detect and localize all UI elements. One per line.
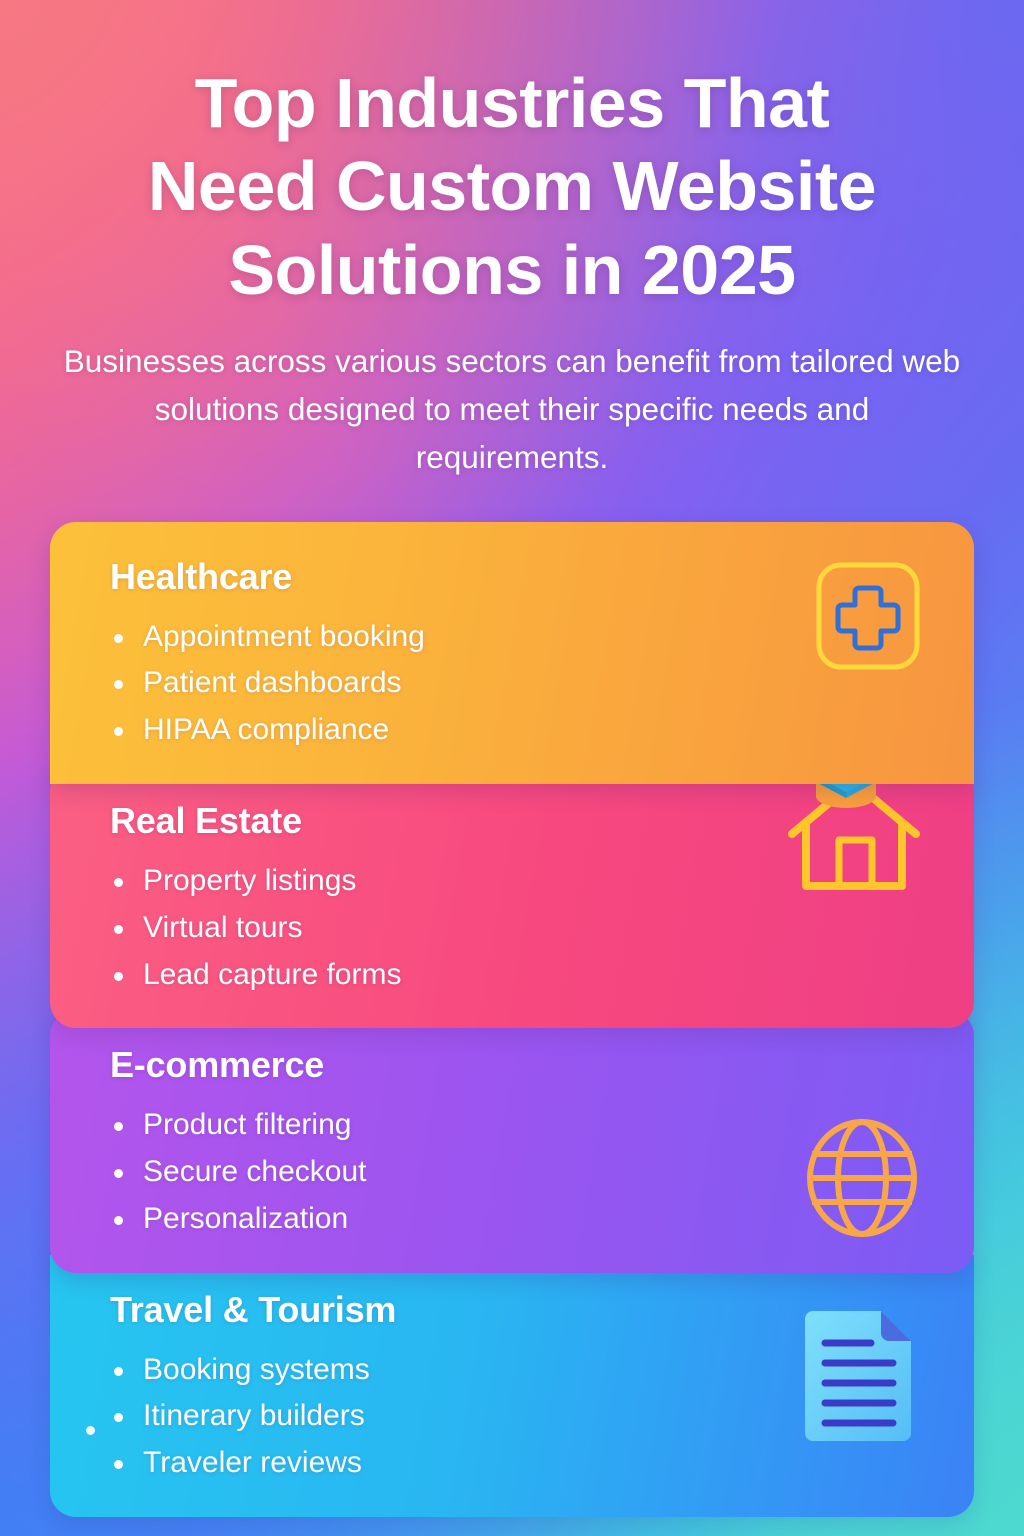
globe-icon (806, 1118, 918, 1238)
card-title: E-commerce (110, 1044, 934, 1086)
list-item: Virtual tours (110, 905, 934, 952)
decorative-dot (86, 1426, 95, 1435)
industry-card-ecommerce[interactable]: E-commerce Product filtering Secure chec… (50, 1010, 974, 1272)
document-icon (797, 1307, 919, 1445)
list-item: Lead capture forms (110, 952, 934, 999)
list-item: HIPAA compliance (110, 707, 934, 754)
page-subtitle: Businesses across various sectors can be… (60, 338, 964, 482)
title-line-1: Top Industries That (195, 64, 830, 142)
list-item: Patient dashboards (110, 660, 934, 707)
list-item: Appointment booking (110, 614, 934, 661)
page-title: Top Industries That Need Custom Website … (60, 62, 964, 312)
card-feature-list: Appointment booking Patient dashboards H… (110, 614, 934, 754)
industry-card-healthcare[interactable]: Healthcare Appointment booking Patient d… (50, 522, 974, 784)
poster-header: Top Industries That Need Custom Website … (0, 0, 1024, 482)
card-title: Healthcare (110, 556, 934, 598)
title-line-3: Solutions in 2025 (228, 231, 795, 309)
infographic-poster: Top Industries That Need Custom Website … (0, 0, 1024, 1536)
medical-cross-icon (814, 560, 922, 672)
list-item: Traveler reviews (110, 1440, 934, 1487)
industry-card-travel-tourism[interactable]: Travel & Tourism Booking systems Itinera… (50, 1255, 974, 1517)
title-line-2: Need Custom Website (148, 147, 876, 225)
industry-card-real-estate[interactable]: Real Estate Property listings Virtual to… (50, 766, 974, 1028)
industry-card-stack: Healthcare Appointment booking Patient d… (50, 522, 974, 1518)
